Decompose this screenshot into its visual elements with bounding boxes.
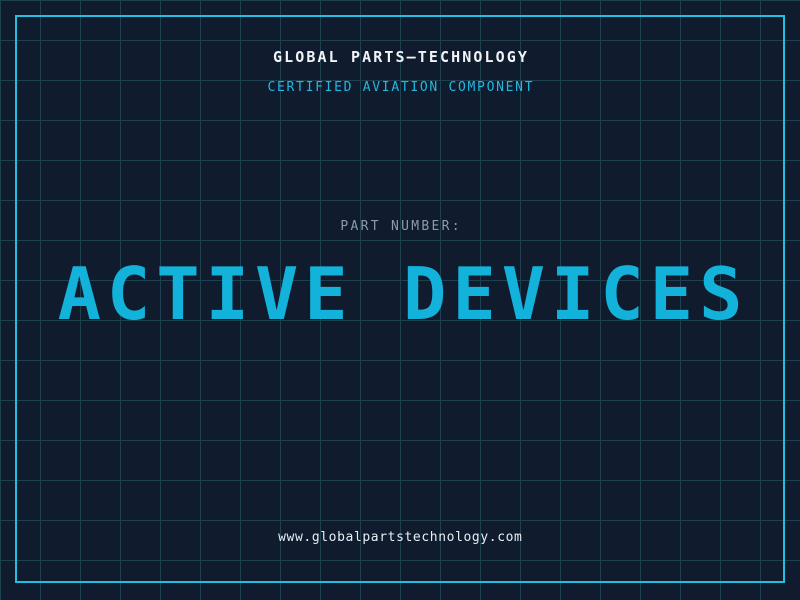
part-card: GLOBAL PARTS—TECHNOLOGY CERTIFIED AVIATI…: [0, 0, 800, 600]
part-number-value: ACTIVE DEVICES: [0, 258, 800, 330]
website-url: www.globalpartstechnology.com: [0, 530, 800, 545]
part-number-label: PART NUMBER:: [0, 219, 800, 234]
brand-title: GLOBAL PARTS—TECHNOLOGY: [0, 48, 800, 66]
brand-subtitle: CERTIFIED AVIATION COMPONENT: [0, 80, 800, 95]
